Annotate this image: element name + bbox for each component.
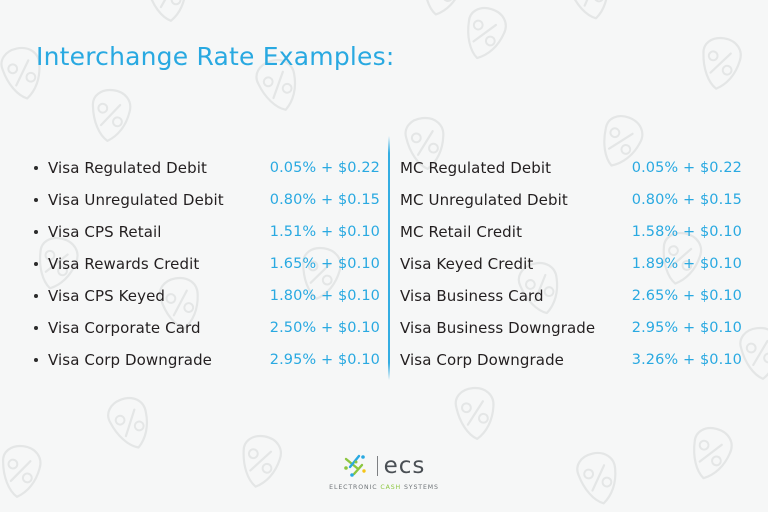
rate-row: Visa CPS Retail 1.51% + $0.10 [30, 216, 382, 248]
rate-label: Visa CPS Keyed [48, 287, 165, 305]
rate-row: MC Regulated Debit 0.05% + $0.22 [400, 152, 752, 184]
rate-value: 0.05% + $0.22 [632, 160, 742, 176]
rate-label: Visa Business Card [400, 287, 544, 305]
rate-label: Visa Unregulated Debit [48, 191, 224, 209]
rate-value: 1.89% + $0.10 [632, 256, 742, 272]
rate-row: Visa CPS Keyed 1.80% + $0.10 [30, 280, 382, 312]
rate-value: 1.65% + $0.10 [270, 256, 380, 272]
ecs-spark-logo-icon [343, 453, 371, 479]
rate-row: Visa Business Card 2.65% + $0.10 [400, 280, 752, 312]
tagline-prefix: ELECTRONIC [329, 484, 380, 491]
logo-wordmark: ecs [384, 455, 426, 478]
list-bullet-icon [30, 230, 48, 234]
rate-label: Visa Business Downgrade [400, 319, 595, 337]
rate-value: 2.95% + $0.10 [632, 320, 742, 336]
list-bullet-icon [30, 198, 48, 202]
rate-label: Visa Keyed Credit [400, 255, 533, 273]
rate-value: 1.51% + $0.10 [270, 224, 380, 240]
list-bullet-icon [30, 262, 48, 266]
list-bullet-icon [30, 294, 48, 298]
rate-label: MC Unregulated Debit [400, 191, 568, 209]
rate-label: Visa Corp Downgrade [48, 351, 212, 369]
rate-label: Visa Corp Downgrade [400, 351, 564, 369]
slide-canvas: Interchange Rate Examples: Visa Regulate… [0, 0, 768, 512]
rate-value: 0.80% + $0.15 [632, 192, 742, 208]
rate-value: 3.26% + $0.10 [632, 352, 742, 368]
rate-row: Visa Corporate Card 2.50% + $0.10 [30, 312, 382, 344]
rate-label: MC Retail Credit [400, 223, 522, 241]
rate-value: 0.80% + $0.15 [270, 192, 380, 208]
rate-value: 1.58% + $0.10 [632, 224, 742, 240]
rate-value: 2.65% + $0.10 [632, 288, 742, 304]
list-bullet-icon [30, 166, 48, 170]
rate-row: MC Retail Credit 1.58% + $0.10 [400, 216, 752, 248]
rate-label: MC Regulated Debit [400, 159, 551, 177]
rate-row: Visa Business Downgrade 2.95% + $0.10 [400, 312, 752, 344]
rate-row: Visa Corp Downgrade 2.95% + $0.10 [30, 344, 382, 376]
page-title: Interchange Rate Examples: [36, 42, 394, 71]
right-rate-list: MC Regulated Debit 0.05% + $0.22 MC Unre… [400, 152, 752, 376]
rate-value: 1.80% + $0.10 [270, 288, 380, 304]
logo-tagline: ELECTRONIC CASH SYSTEMS [329, 484, 439, 491]
rate-row: Visa Corp Downgrade 3.26% + $0.10 [400, 344, 752, 376]
left-rate-list: Visa Regulated Debit 0.05% + $0.22 Visa … [30, 152, 382, 376]
logo-lockup: ecs [343, 452, 426, 480]
rate-value: 0.05% + $0.22 [270, 160, 380, 176]
list-bullet-icon [30, 358, 48, 362]
rate-row: Visa Regulated Debit 0.05% + $0.22 [30, 152, 382, 184]
rate-label: Visa Regulated Debit [48, 159, 207, 177]
rate-label: Visa Rewards Credit [48, 255, 199, 273]
rate-row: Visa Unregulated Debit 0.80% + $0.15 [30, 184, 382, 216]
list-bullet-icon [30, 326, 48, 330]
rate-row: Visa Rewards Credit 1.65% + $0.10 [30, 248, 382, 280]
tagline-highlight: CASH [380, 484, 401, 491]
column-divider [388, 136, 390, 380]
logo-separator [377, 456, 378, 476]
rate-row: Visa Keyed Credit 1.89% + $0.10 [400, 248, 752, 280]
rate-label: Visa CPS Retail [48, 223, 162, 241]
rate-row: MC Unregulated Debit 0.80% + $0.15 [400, 184, 752, 216]
rate-value: 2.95% + $0.10 [270, 352, 380, 368]
tagline-suffix: SYSTEMS [401, 484, 439, 491]
rate-value: 2.50% + $0.10 [270, 320, 380, 336]
footer-branding: ecs ELECTRONIC CASH SYSTEMS [0, 452, 768, 491]
rate-label: Visa Corporate Card [48, 319, 201, 337]
